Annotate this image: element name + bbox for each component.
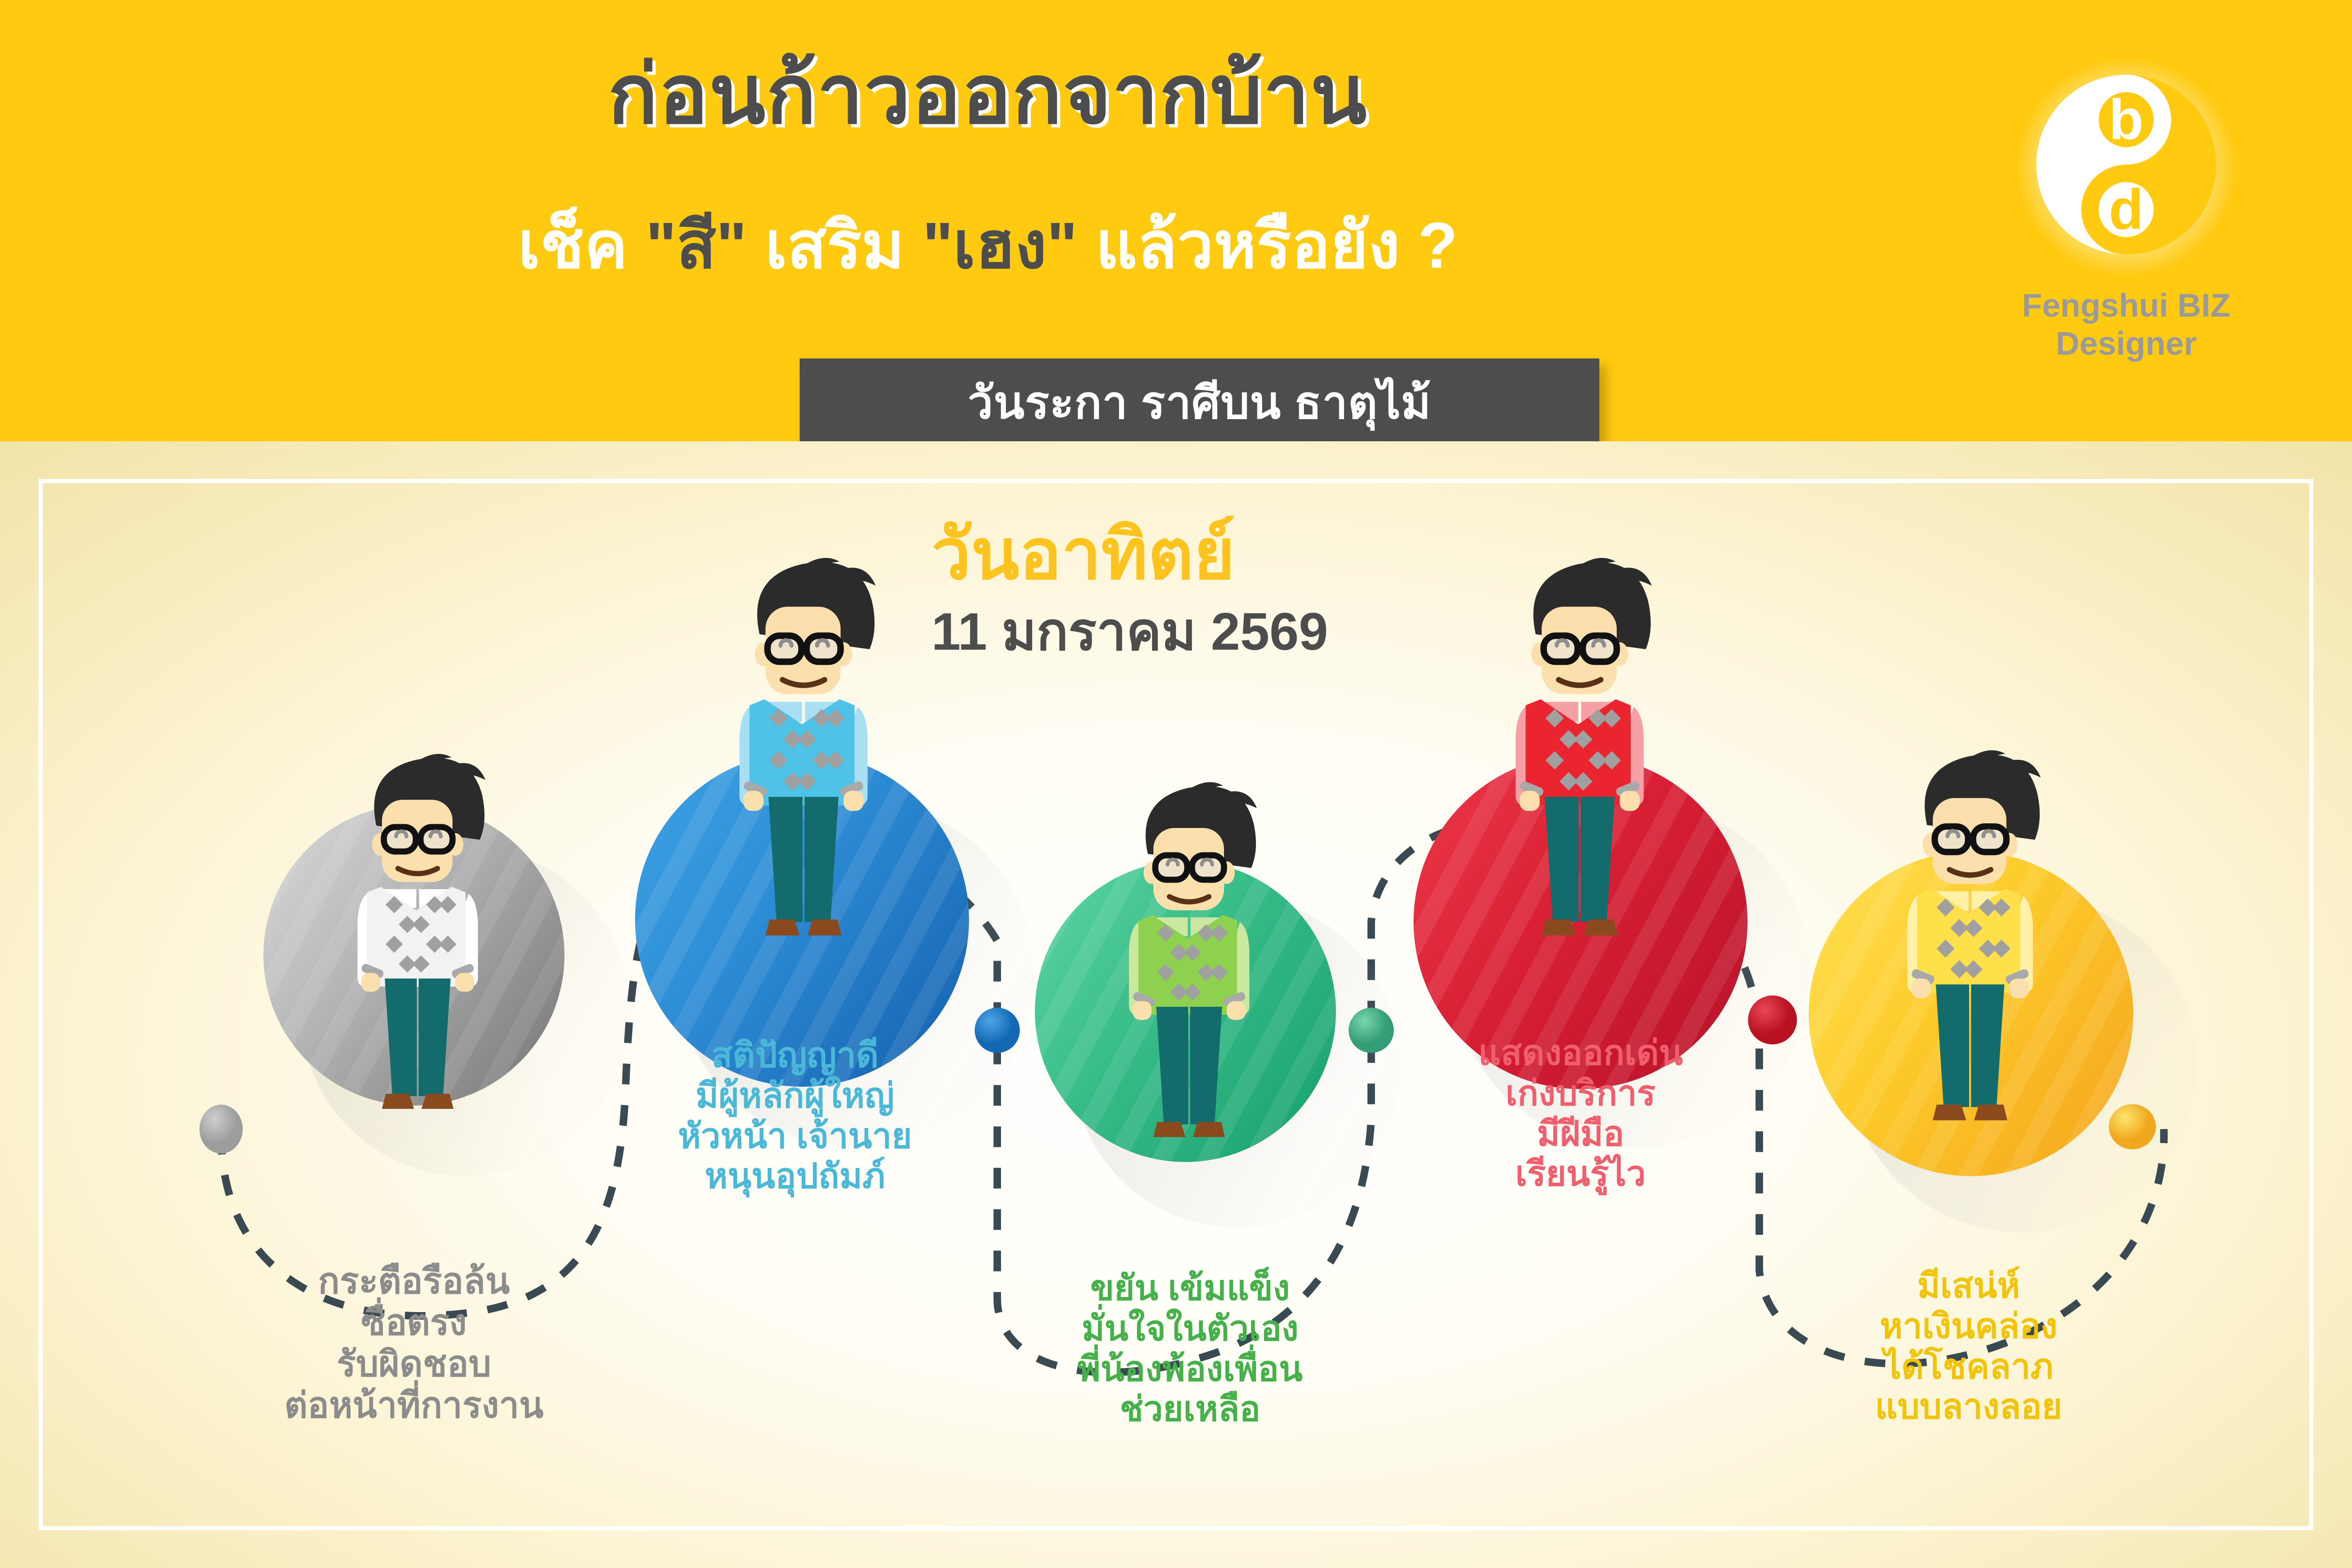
character-yellow — [1853, 734, 2084, 1176]
subtitle-quote-heng: "เฮง" — [922, 209, 1078, 282]
character-green — [1077, 767, 1298, 1190]
caption-blue: สติปัญญาดี มีผู้หลักผู้ใหญ่ หัวหน้า เจ้า… — [597, 1035, 993, 1196]
day-heading-block: วันอาทิตย์ 11 มกราคม 2569 — [931, 517, 1496, 659]
character-blue — [684, 541, 920, 993]
character-gray — [306, 743, 527, 1157]
logo-line-2: Designer — [1976, 325, 2277, 363]
caption-green: ขยัน เข้มแข็ง มั่นใจในตัวเอง พี่น้องพ้อง… — [969, 1268, 1411, 1429]
character-red — [1461, 541, 1696, 993]
brand-logo[interactable]: b d Fengshui BIZ Designer — [1976, 33, 2277, 362]
caption-red: แสดงออกเด่น เก่งบริการ มีฝีมือ เรียนรู้ไ… — [1374, 1033, 1788, 1194]
subtitle-part-a: เช็ค — [518, 209, 646, 282]
logo-wordmark: Fengshui BIZ Designer — [1976, 287, 2277, 362]
caption-gray: กระตือรือล้น ซื่อตรง รับผิดชอบ ต่อหน้าที… — [155, 1261, 673, 1427]
logo-line-1: Fengshui BIZ — [1976, 287, 2277, 325]
page-subtitle: เช็ค "สี" เสริม "เฮง" แล้วหรือยัง ? — [0, 212, 1976, 280]
subtitle-part-c: แล้วหรือยัง ? — [1078, 209, 1458, 282]
day-name: วันอาทิตย์ — [931, 517, 1496, 592]
zodiac-badge-label: วันระกา ราศีบน ธาตุไม้ — [968, 367, 1431, 438]
subtitle-part-b: เสริม — [747, 209, 922, 282]
day-date: 11 มกราคม 2569 — [931, 604, 1496, 660]
caption-yellow: มีเสน่ห์ หาเงินคล่อง ได้โชคลาภ แบบลางลอย — [1745, 1266, 2192, 1427]
logo-letter-d: d — [2109, 178, 2144, 241]
header-banner: ก่อนก้าวออกจากบ้าน เช็ค "สี" เสริม "เฮง"… — [0, 0, 2352, 441]
subtitle-quote-color: "สี" — [646, 209, 747, 282]
yin-yang-icon: b d — [2034, 73, 2218, 256]
page-title: ก่อนก้าวออกจากบ้าน — [0, 52, 1976, 138]
logo-letter-b: b — [2109, 88, 2144, 151]
zodiac-badge: วันระกา ราศีบน ธาตุไม้ — [800, 358, 1599, 447]
